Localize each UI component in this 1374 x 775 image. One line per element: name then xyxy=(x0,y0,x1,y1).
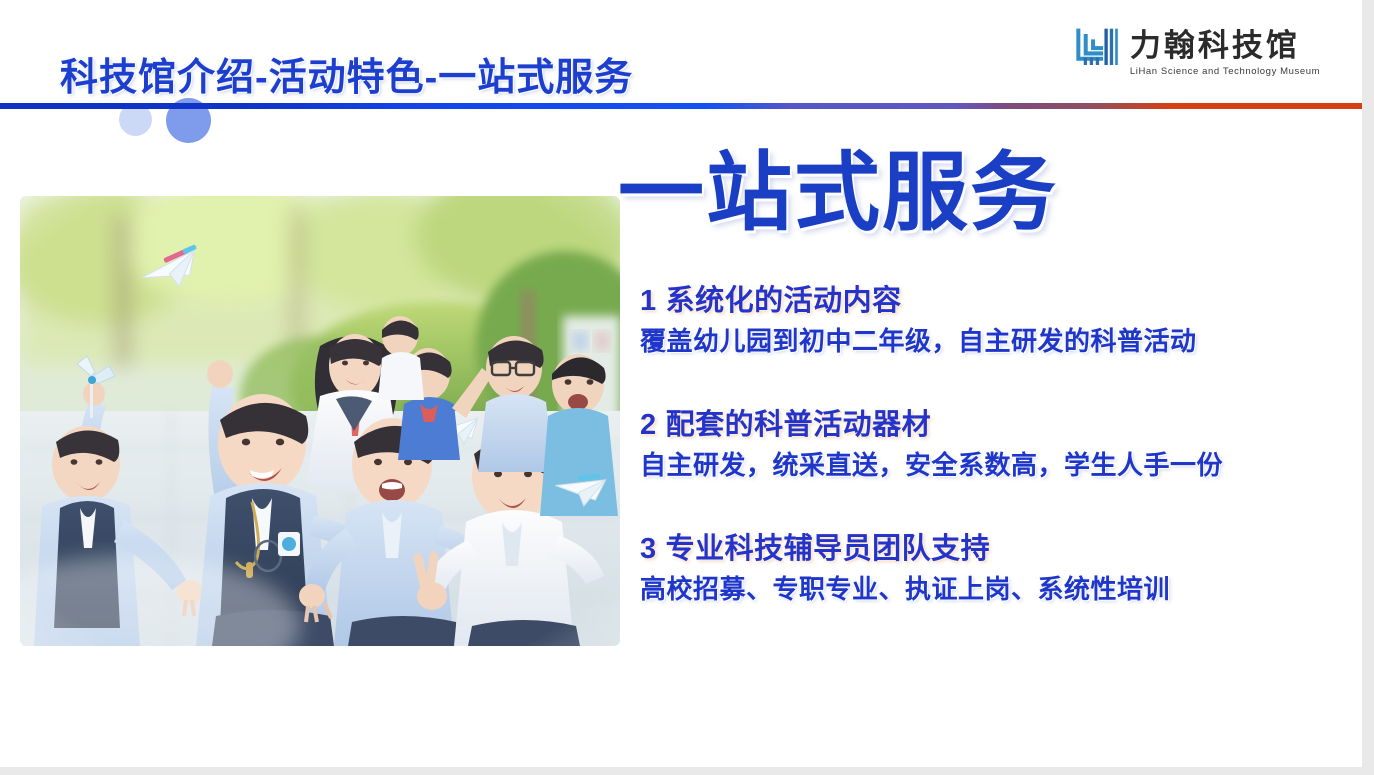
feature-point-heading-text: 专业科技辅导员团队支持 xyxy=(666,533,991,565)
feature-point-number: 1 xyxy=(640,285,657,317)
feature-point-body: 高校招募、专职专业、执证上岗、系统性培训 xyxy=(640,570,1360,609)
lihan-bracket-mark-icon xyxy=(1075,28,1118,84)
logo-name-cn: 力翰科技馆 xyxy=(1130,28,1300,63)
feature-point: 2配套的科普活动器材 自主研发，统采直送，安全系数高，学生人手一份 xyxy=(640,404,1360,485)
feature-point-number: 2 xyxy=(640,409,657,441)
feature-point: 3专业科技辅导员团队支持 高校招募、专职专业、执证上岗、系统性培训 xyxy=(640,528,1360,609)
photo-frame xyxy=(20,196,620,646)
feature-point-heading: 2配套的科普活动器材 xyxy=(640,404,1360,446)
feature-point-heading: 3专业科技辅导员团队支持 xyxy=(640,528,1360,570)
feature-point-number: 3 xyxy=(640,533,657,565)
slide-headline: 一站式服务 xyxy=(618,148,1058,238)
feature-point-body: 覆盖幼儿园到初中二年级，自主研发的科普活动 xyxy=(640,322,1360,361)
header-gradient-rule xyxy=(0,103,1362,109)
slide-canvas: 科技馆介绍-活动特色-一站式服务 力翰科技 xyxy=(0,0,1374,775)
feature-point-heading-text: 系统化的活动内容 xyxy=(666,285,902,317)
brand-logo: 力翰科技馆 LiHan Science and Technology Museu… xyxy=(1075,28,1374,84)
page-right-edge xyxy=(1362,0,1374,775)
page-title: 科技馆介绍-活动特色-一站式服务 xyxy=(60,46,633,101)
logo-name-en: LiHan Science and Technology Museum xyxy=(1130,66,1320,77)
feature-points-list: 1系统化的活动内容 覆盖幼儿园到初中二年级，自主研发的科普活动 2配套的科普活动… xyxy=(640,280,1360,609)
page-bottom-edge xyxy=(0,767,1374,775)
feature-point-heading: 1系统化的活动内容 xyxy=(640,280,1360,322)
feature-point-body: 自主研发，统采直送，安全系数高，学生人手一份 xyxy=(640,446,1360,485)
feature-point-heading-text: 配套的科普活动器材 xyxy=(666,409,932,441)
feature-point: 1系统化的活动内容 覆盖幼儿园到初中二年级，自主研发的科普活动 xyxy=(640,280,1360,361)
children-paper-airplanes-photo xyxy=(20,196,620,646)
